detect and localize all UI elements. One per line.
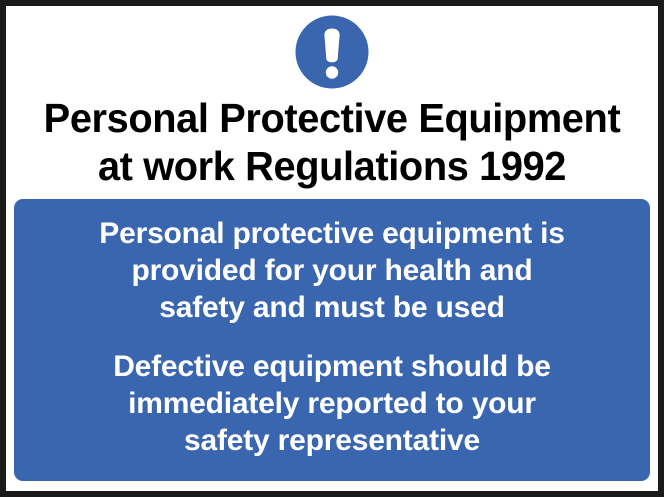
safety-sign: Personal Protective Equipment at work Re… [0, 0, 664, 497]
heading-line-2: at work Regulations 1992 [16, 142, 648, 190]
exclamation-circle-icon [295, 15, 369, 89]
paragraph-1-line-2: provided for your health and [32, 252, 632, 289]
paragraph-1-line-1: Personal protective equipment is [32, 215, 632, 252]
message-paragraph-1: Personal protective equipment is provide… [32, 215, 632, 326]
paragraph-1-line-3: safety and must be used [32, 289, 632, 326]
paragraph-2-line-3: safety representative [32, 422, 632, 459]
page-title: Personal Protective Equipment at work Re… [16, 94, 648, 190]
heading-line-1: Personal Protective Equipment [16, 94, 648, 142]
message-panel: Personal protective equipment is provide… [14, 199, 650, 481]
paragraph-2-line-1: Defective equipment should be [32, 348, 632, 385]
paragraph-2-line-2: immediately reported to your [32, 385, 632, 422]
message-paragraph-2: Defective equipment should be immediatel… [32, 348, 632, 459]
